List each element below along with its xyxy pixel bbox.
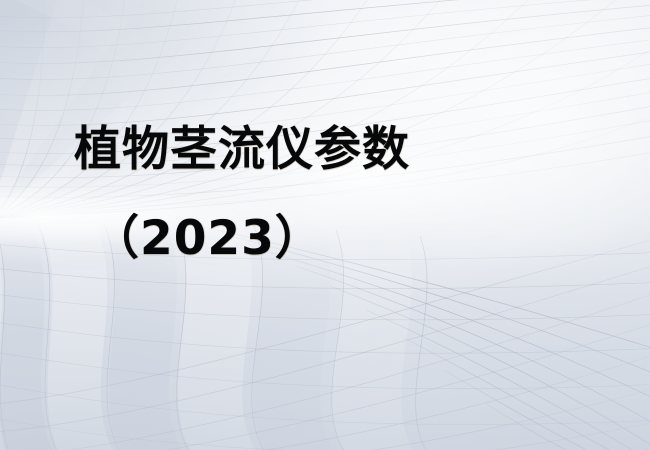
slide-title-year: （2023） [92,215,590,262]
title-block: 植物茎流仪参数 （2023） [70,126,590,262]
slide-title-primary: 植物茎流仪参数 [74,126,590,173]
title-slide: 植物茎流仪参数 （2023） [0,0,650,450]
